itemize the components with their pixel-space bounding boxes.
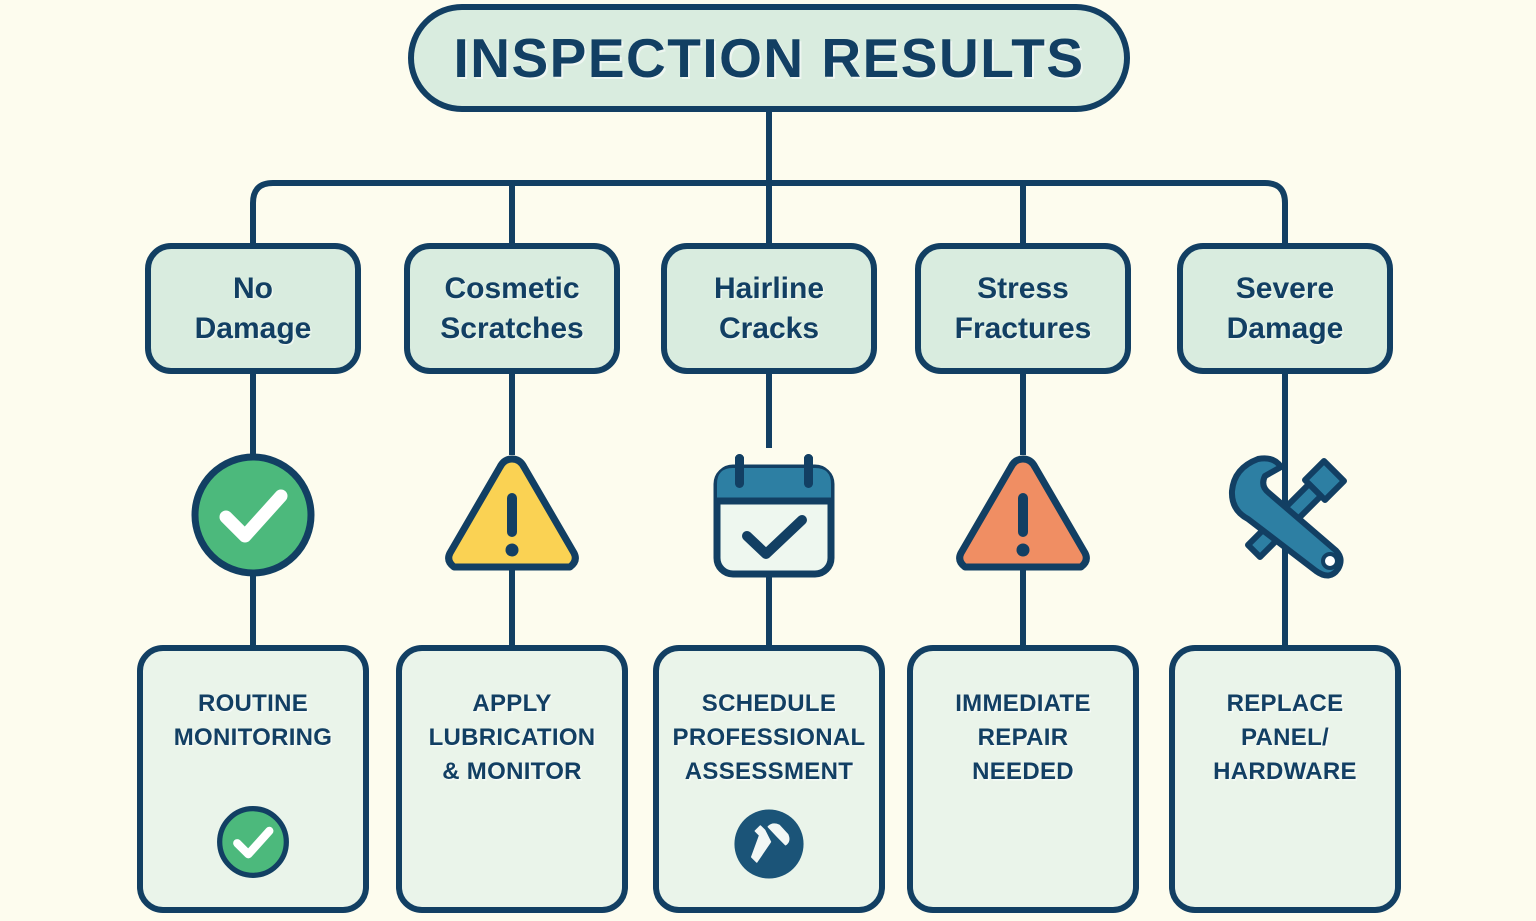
category-label: Stress Fractures [947, 269, 1100, 348]
diagram-title: INSPECTION RESULTS [408, 4, 1130, 112]
category-label: Hairline Cracks [706, 269, 832, 348]
check-circle-icon [188, 450, 318, 580]
warning-triangle-icon [950, 449, 1096, 581]
action-icon-wrap [733, 808, 805, 885]
action-box-replace-panel[interactable]: REPLACE PANEL/ HARDWARE [1169, 645, 1401, 913]
action-box-apply-lubrication[interactable]: APPLY LUBRICATION & MONITOR [396, 645, 628, 913]
status-icon-no-damage [178, 440, 328, 590]
action-box-schedule-assessment[interactable]: SCHEDULE PROFESSIONAL ASSESSMENT [653, 645, 885, 913]
action-label: IMMEDIATE REPAIR NEEDED [945, 687, 1101, 789]
category-box-stress-fractures[interactable]: Stress Fractures [915, 243, 1131, 374]
warning-triangle-icon [439, 449, 585, 581]
category-box-cosmetic-scratches[interactable]: Cosmetic Scratches [404, 243, 620, 374]
status-icon-severe-damage [1210, 440, 1360, 590]
category-label: Cosmetic Scratches [432, 269, 591, 348]
wrench-screwdriver-icon [1212, 447, 1358, 583]
action-label: APPLY LUBRICATION & MONITOR [419, 687, 606, 789]
diagram-title-label: INSPECTION RESULTS [453, 31, 1084, 86]
action-label: ROUTINE MONITORING [164, 687, 343, 755]
wire-bus [253, 183, 1285, 246]
category-label: Severe Damage [1219, 269, 1352, 348]
calendar-check-icon [704, 448, 844, 582]
action-label: REPLACE PANEL/ HARDWARE [1203, 687, 1367, 789]
action-box-routine-monitoring[interactable]: ROUTINE MONITORING [137, 645, 369, 913]
category-box-no-damage[interactable]: No Damage [145, 243, 361, 374]
category-box-severe-damage[interactable]: Severe Damage [1177, 243, 1393, 374]
hammer-circle-icon [733, 808, 805, 880]
status-icon-stress-fractures [948, 440, 1098, 590]
action-box-immediate-repair[interactable]: IMMEDIATE REPAIR NEEDED [907, 645, 1139, 913]
status-icon-cosmetic-scratches [437, 440, 587, 590]
diagram-canvas: INSPECTION RESULTS No Damage Cosmetic Sc… [0, 0, 1536, 921]
category-box-hairline-cracks[interactable]: Hairline Cracks [661, 243, 877, 374]
status-icon-hairline-cracks [699, 440, 849, 590]
action-label: SCHEDULE PROFESSIONAL ASSESSMENT [663, 687, 876, 789]
category-label: No Damage [187, 269, 320, 348]
check-circle-icon [215, 804, 291, 880]
action-icon-wrap [215, 804, 291, 885]
